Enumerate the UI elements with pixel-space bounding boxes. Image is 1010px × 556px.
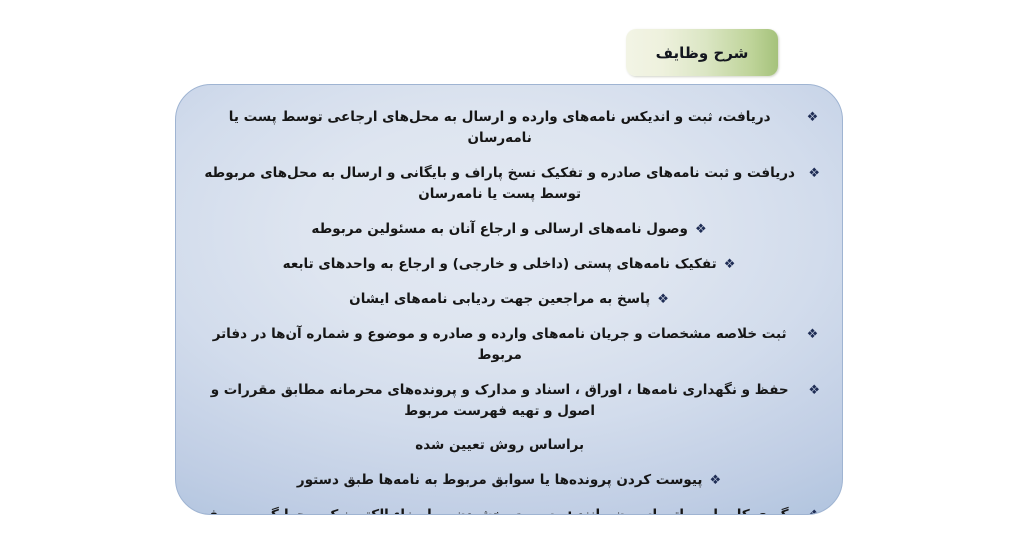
diamond-bullet-icon: ❖ bbox=[807, 107, 819, 128]
slide-canvas: شرح وظایف ❖ دریافت، ثبت و اندیکس نامه‌ها… bbox=[0, 0, 1010, 556]
diamond-bullet-icon: ❖ bbox=[808, 380, 820, 401]
list-item: ❖ تفکیک نامه‌های پستی (داخلی و خارجی) و … bbox=[198, 254, 820, 275]
list-item-text: حفظ و نگهداری نامه‌ها ، اوراق ، اسناد و … bbox=[198, 380, 801, 456]
list-item-text: پاسخ به مراجعین جهت ردیابی نامه‌های ایشا… bbox=[349, 289, 650, 310]
list-item-text: دریافت، ثبت و اندیکس نامه‌های وارده و ار… bbox=[200, 107, 800, 149]
list-item-text: وصول نامه‌های ارسالی و ارجاع آنان به مسئ… bbox=[311, 219, 688, 240]
diamond-bullet-icon: ❖ bbox=[808, 505, 820, 515]
responsibilities-list: ❖ دریافت، ثبت و اندیکس نامه‌های وارده و … bbox=[176, 85, 842, 514]
list-item: ❖ ثبت خلاصه مشخصات و جریان نامه‌های وارد… bbox=[198, 324, 820, 366]
responsibilities-panel: ❖ دریافت، ثبت و اندیکس نامه‌های وارده و … bbox=[175, 84, 843, 515]
diamond-bullet-icon: ❖ bbox=[709, 470, 721, 491]
diamond-bullet-icon: ❖ bbox=[808, 163, 820, 184]
diamond-bullet-icon: ❖ bbox=[695, 219, 707, 240]
diamond-bullet-icon: ❖ bbox=[807, 324, 819, 345]
list-item: ❖ دریافت، ثبت و اندیکس نامه‌های وارده و … bbox=[198, 107, 820, 149]
diamond-bullet-icon: ❖ bbox=[724, 254, 736, 275]
list-item: ❖ پیگیری کلیه امور اتوماسیون مانند : رسم… bbox=[198, 505, 820, 515]
diamond-bullet-icon: ❖ bbox=[657, 289, 669, 310]
list-item-text: پیوست کردن پرونده‌ها یا سوابق مربوط به ن… bbox=[297, 470, 703, 491]
list-item-line-2: براساس روش تعیین شده bbox=[198, 435, 801, 456]
list-item-text: پیگیری کلیه امور اتوماسیون مانند : رسمیت… bbox=[198, 505, 801, 515]
list-item: ❖ حفظ و نگهداری نامه‌ها ، اوراق ، اسناد … bbox=[198, 380, 820, 456]
list-item-text: تفکیک نامه‌های پستی (داخلی و خارجی) و ار… bbox=[283, 254, 717, 275]
list-item-line-1: پیگیری کلیه امور اتوماسیون مانند : رسمیت… bbox=[200, 507, 799, 515]
list-item-line-1: حفظ و نگهداری نامه‌ها ، اوراق ، اسناد و … bbox=[211, 382, 789, 419]
list-item: ❖ وصول نامه‌های ارسالی و ارجاع آنان به م… bbox=[198, 219, 820, 240]
list-item: ❖ پاسخ به مراجعین جهت ردیابی نامه‌های ای… bbox=[198, 289, 820, 310]
title-plaque: شرح وظایف bbox=[626, 29, 778, 76]
list-item-text: دریافت و ثبت نامه‌های صادره و تفکیک نسخ … bbox=[198, 163, 801, 205]
list-item-text: ثبت خلاصه مشخصات و جریان نامه‌های وارده … bbox=[200, 324, 800, 366]
page-title: شرح وظایف bbox=[656, 44, 749, 62]
list-item: ❖ پیوست کردن پرونده‌ها یا سوابق مربوط به… bbox=[198, 470, 820, 491]
list-item: ❖ دریافت و ثبت نامه‌های صادره و تفکیک نس… bbox=[198, 163, 820, 205]
